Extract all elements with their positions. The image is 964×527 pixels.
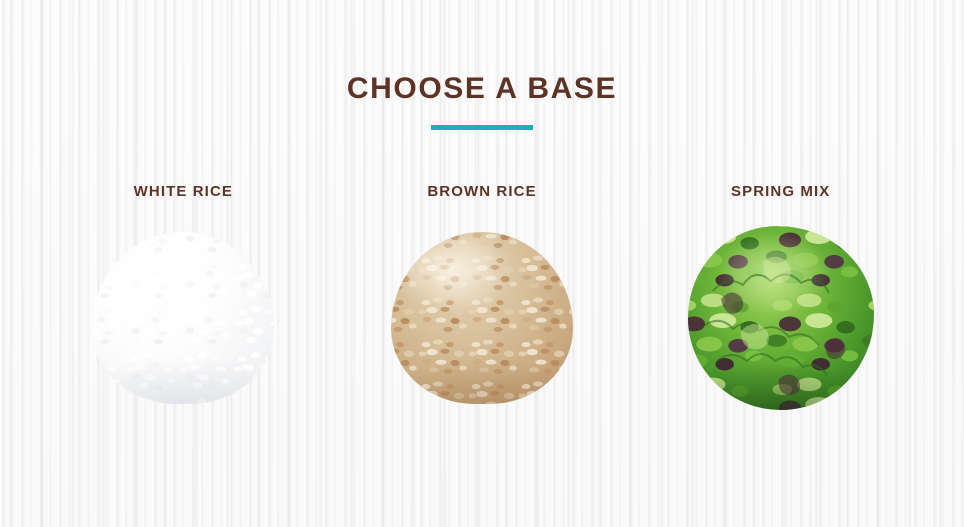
brown-rice-mound-icon [391,232,573,404]
choose-base-page: { "header": { "title": "CHOOSE A BASE", … [0,0,964,527]
base-options-row: WHITE RICE BROWN RICE SPRING MIX [0,184,964,413]
page-header: CHOOSE A BASE [0,0,964,130]
spring-mix-greens-icon [688,226,874,410]
base-option-label-brown-rice: BROWN RICE [333,184,632,199]
spring-mix-image[interactable] [686,223,876,413]
title-underline-rule [431,125,533,130]
page-title: CHOOSE A BASE [0,74,964,104]
base-option-white-rice[interactable]: WHITE RICE [34,184,333,413]
brown-rice-image[interactable] [387,223,577,413]
base-option-spring-mix[interactable]: SPRING MIX [631,184,930,413]
white-rice-image[interactable] [88,223,278,413]
base-option-brown-rice[interactable]: BROWN RICE [333,184,632,413]
base-option-label-spring-mix: SPRING MIX [631,184,930,199]
white-rice-mound-icon [92,232,274,404]
base-option-label-white-rice: WHITE RICE [34,184,333,199]
